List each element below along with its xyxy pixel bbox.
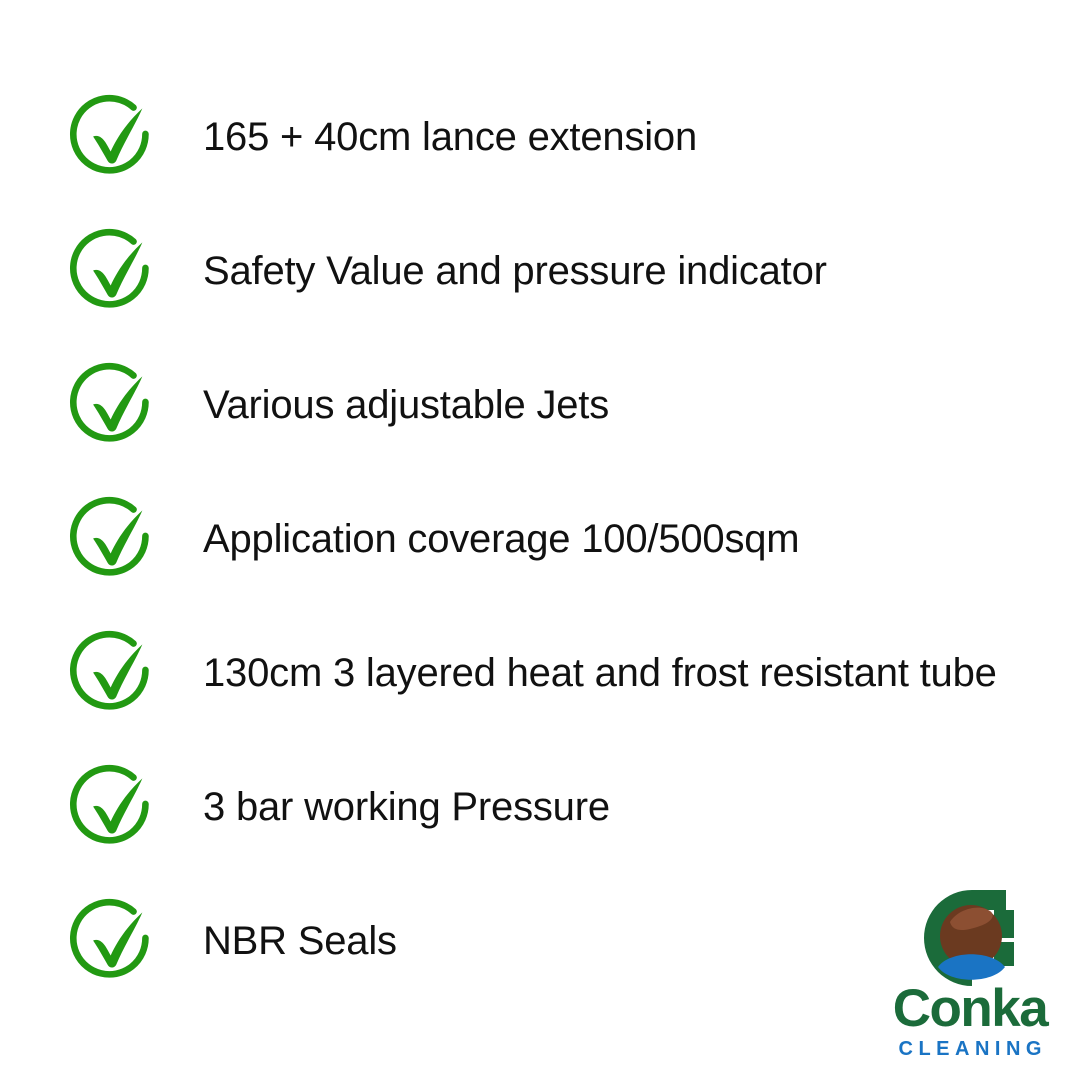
list-item: Safety Value and pressure indicator [68, 226, 827, 316]
check-circle-icon [68, 629, 156, 717]
check-circle-icon [68, 93, 156, 181]
list-item: 165 + 40cm lance extension [68, 92, 697, 182]
list-item-label: 130cm 3 layered heat and frost resistant… [203, 653, 997, 693]
check-circle-icon [68, 897, 156, 985]
check-circle-icon [68, 361, 156, 449]
conka-coconut-mark-icon [920, 886, 1024, 990]
logo-brand-name: Conka [872, 982, 1068, 1035]
check-circle-icon [68, 495, 156, 583]
list-item: NBR Seals [68, 896, 397, 986]
list-item-label: 3 bar working Pressure [203, 787, 610, 827]
list-item-label: NBR Seals [203, 921, 397, 961]
list-item-label: Safety Value and pressure indicator [203, 251, 827, 291]
list-item: 3 bar working Pressure [68, 762, 610, 852]
list-item: 130cm 3 layered heat and frost resistant… [68, 628, 997, 718]
logo-tagline-wrap: CLEANING [872, 1039, 1068, 1059]
list-item-label: Application coverage 100/500sqm [203, 519, 799, 559]
list-item: Various adjustable Jets [68, 360, 609, 450]
list-item-label: 165 + 40cm lance extension [203, 117, 697, 157]
check-circle-icon [68, 227, 156, 315]
feature-list-graphic: 165 + 40cm lance extension Safety Value … [0, 0, 1080, 1080]
list-item-label: Various adjustable Jets [203, 385, 609, 425]
logo-tagline: CLEANING [872, 1039, 1068, 1059]
list-item: Application coverage 100/500sqm [68, 494, 799, 584]
check-circle-icon [68, 763, 156, 851]
